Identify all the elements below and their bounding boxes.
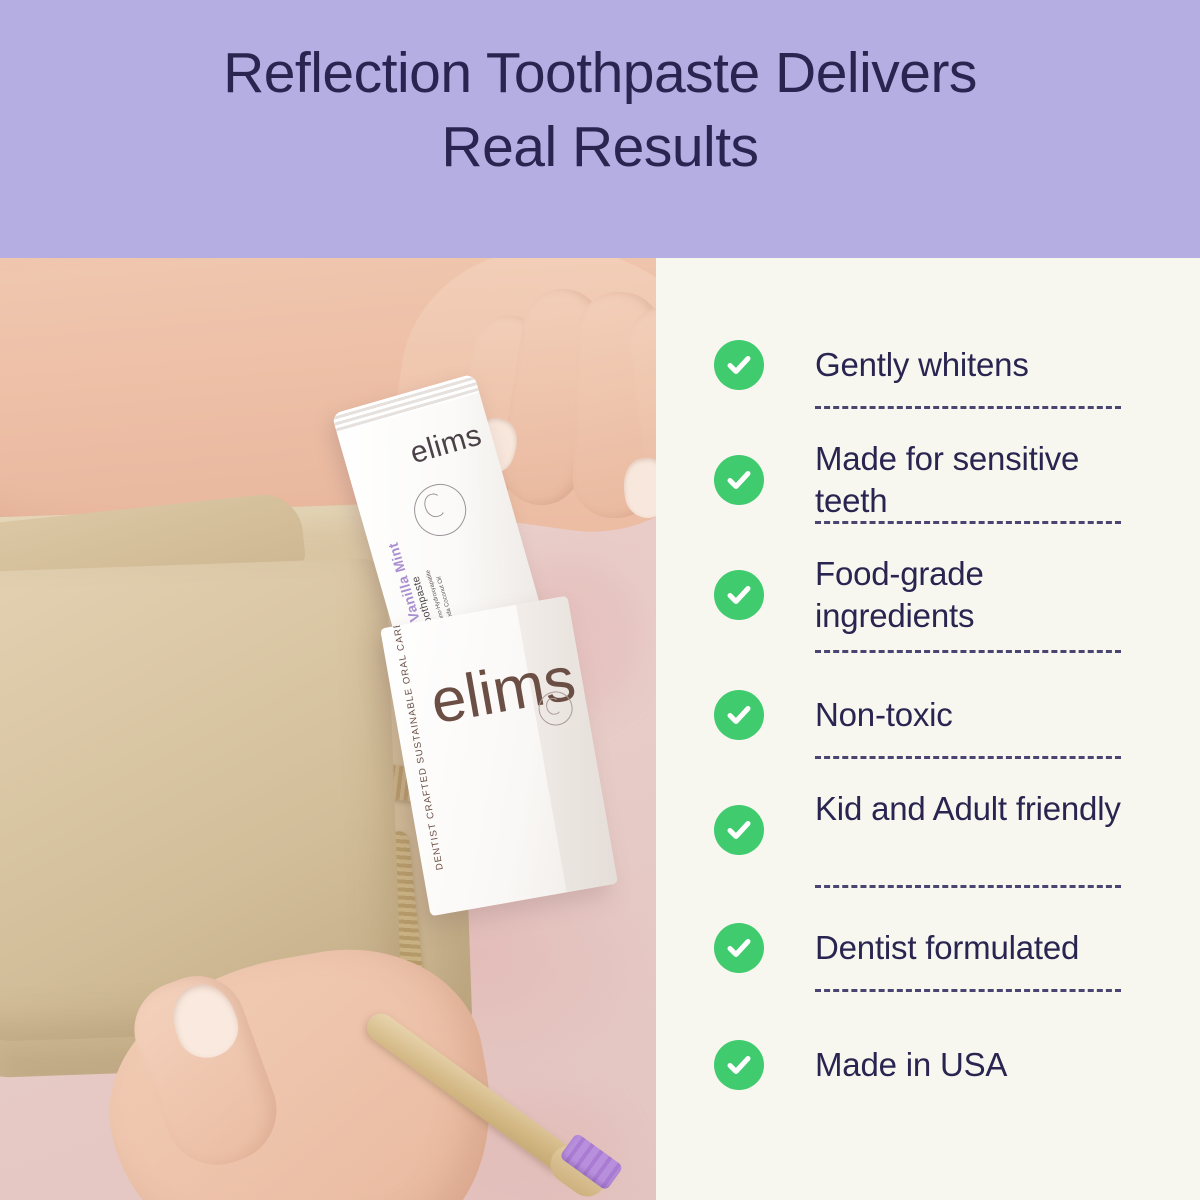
- list-divider: [815, 885, 1121, 888]
- list-divider: [815, 756, 1121, 759]
- feature-label: Made for sensitive teeth: [815, 438, 1145, 522]
- feature-label: Dentist formulated: [815, 927, 1145, 969]
- check-circle-icon: [714, 1040, 764, 1090]
- feature-label: Gently whitens: [815, 344, 1145, 386]
- check-circle-icon: [714, 690, 764, 740]
- feature-label: Made in USA: [815, 1044, 1145, 1086]
- elims-emblem-icon: [408, 478, 472, 542]
- list-divider: [815, 989, 1121, 992]
- list-divider: [815, 521, 1121, 524]
- product-photo: elims Reflection Toothpaste Lavender Van…: [0, 258, 656, 1200]
- header-banner: Reflection Toothpaste Delivers Real Resu…: [0, 0, 1200, 258]
- list-divider: [815, 406, 1121, 409]
- list-divider: [815, 650, 1121, 653]
- check-circle-icon: [714, 570, 764, 620]
- feature-label: Kid and Adult friendly: [815, 788, 1145, 830]
- check-circle-icon: [714, 455, 764, 505]
- feature-list: Gently whitens Made for sensitive teeth …: [656, 258, 1200, 1200]
- feature-label: Food-grade ingredients: [815, 553, 1145, 637]
- page-title: Reflection Toothpaste Delivers Real Resu…: [0, 36, 1200, 184]
- check-circle-icon: [714, 923, 764, 973]
- tube-brand-label: elims: [407, 418, 486, 471]
- feature-label: Non-toxic: [815, 694, 1145, 736]
- check-circle-icon: [714, 340, 764, 390]
- check-circle-icon: [714, 805, 764, 855]
- promo-graphic: Reflection Toothpaste Delivers Real Resu…: [0, 0, 1200, 1200]
